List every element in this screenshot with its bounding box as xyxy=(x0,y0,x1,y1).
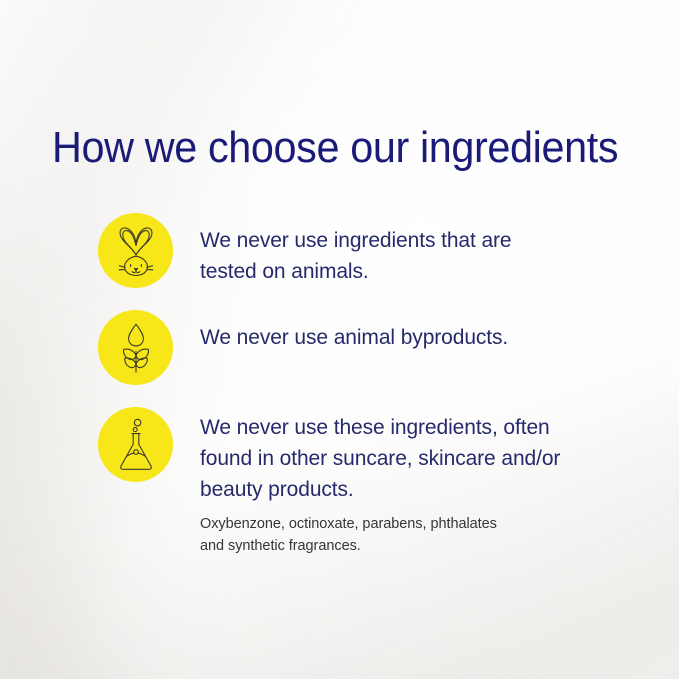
claim-text-block: We never use animal byproducts. xyxy=(200,310,508,353)
list-item: We never use animal byproducts. xyxy=(0,310,679,385)
subnote-line: and synthetic fragrances. xyxy=(200,535,560,557)
claim-line: beauty products. xyxy=(200,474,560,505)
claim-line: We never use these ingredients, often xyxy=(200,412,560,443)
claim-text-block: We never use ingredients that are tested… xyxy=(200,213,512,287)
icon-badge-cruelty-free xyxy=(98,213,173,288)
claim-line: We never use animal byproducts. xyxy=(200,322,508,353)
claim-line: tested on animals. xyxy=(200,256,512,287)
claim-line: found in other suncare, skincare and/or xyxy=(200,443,560,474)
flask-beaker-icon xyxy=(115,418,157,472)
page-title: How we choose our ingredients xyxy=(52,122,618,174)
icon-badge-plant-based xyxy=(98,310,173,385)
subnote-line: Oxybenzone, octinoxate, parabens, phthal… xyxy=(200,513,560,535)
ingredient-philosophy-graphic: How we choose our ingredients xyxy=(0,0,679,679)
claim-line: We never use ingredients that are xyxy=(200,225,512,256)
plant-leaf-droplet-icon xyxy=(115,322,157,374)
list-item: We never use ingredients that are tested… xyxy=(0,213,679,288)
claims-list: We never use ingredients that are tested… xyxy=(0,213,679,557)
bunny-cruelty-free-icon xyxy=(113,225,159,277)
icon-badge-clean-chemistry xyxy=(98,407,173,482)
ingredient-exclusion-note: Oxybenzone, octinoxate, parabens, phthal… xyxy=(200,513,560,557)
claim-text-block: We never use these ingredients, often fo… xyxy=(200,407,560,557)
list-item: We never use these ingredients, often fo… xyxy=(0,407,679,557)
